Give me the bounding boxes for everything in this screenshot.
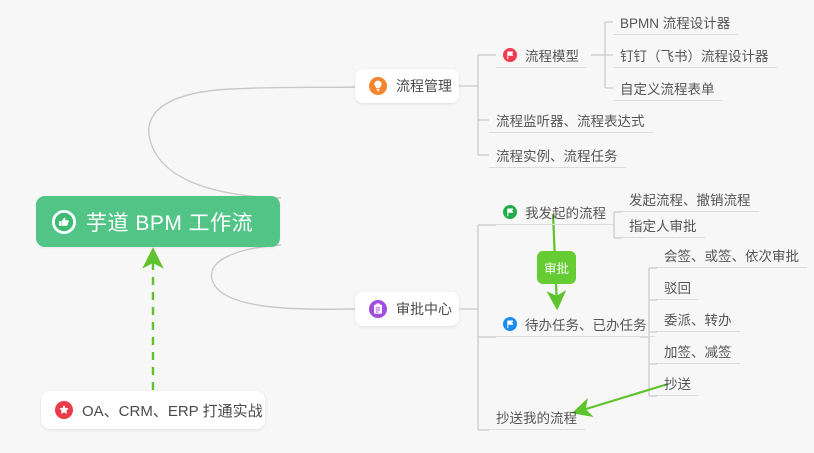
node-countersign[interactable]: 会签、或签、依次审批 [657, 242, 807, 268]
edge-root-to-process-management [149, 87, 355, 198]
node-process-listener[interactable]: 流程监听器、流程表达式 [489, 107, 653, 133]
node-label-process-listener: 流程监听器、流程表达式 [496, 110, 645, 130]
node-assignee-approval[interactable]: 指定人审批 [622, 212, 705, 238]
edge-root-to-approval-center [211, 245, 355, 309]
edge-process-model-spine [591, 22, 605, 88]
node-delegate-transfer[interactable]: 委派、转办 [657, 306, 740, 332]
node-label-process-model: 流程模型 [525, 45, 579, 65]
branch-node-approval-center[interactable]: 审批中心 [355, 292, 459, 326]
node-label-add-remove-sign: 加签、减签 [664, 341, 732, 361]
node-reject[interactable]: 驳回 [657, 274, 699, 300]
node-label-cc: 抄送 [664, 373, 691, 393]
node-label-my-started-process: 我发起的流程 [525, 202, 606, 222]
node-todo-done-tasks[interactable]: 待办任务、已办任务 [496, 311, 655, 337]
node-process-model[interactable]: 流程模型 [496, 42, 587, 68]
node-add-remove-sign[interactable]: 加签、减签 [657, 338, 740, 364]
branch-node-process-management[interactable]: 流程管理 [355, 69, 459, 103]
node-label-dingtalk-designer: 钉钉（飞书）流程设计器 [620, 45, 769, 65]
node-label-todo-done-tasks: 待办任务、已办任务 [525, 314, 647, 334]
node-custom-form[interactable]: 自定义流程表单 [613, 75, 723, 101]
root-label: 芋道 BPM 工作流 [86, 207, 253, 237]
node-my-started-process[interactable]: 我发起的流程 [496, 199, 614, 225]
branch-label-approval-center: 审批中心 [396, 299, 452, 319]
node-label-custom-form: 自定义流程表单 [620, 78, 715, 98]
flag-green-icon [503, 205, 517, 219]
node-bpmn-designer[interactable]: BPMN 流程设计器 [613, 9, 738, 35]
note-node-oa-crm-erp[interactable]: OA、CRM、ERP 打通实战 [41, 391, 265, 429]
mindmap-canvas: 芋道 BPM 工作流 流程管理 流程模型 BPMN 流程设计器 钉钉（飞书）流程… [0, 0, 814, 453]
node-process-instance[interactable]: 流程实例、流程任务 [489, 142, 626, 168]
arrow-chaosong [576, 384, 668, 412]
node-dingtalk-designer[interactable]: 钉钉（飞书）流程设计器 [613, 42, 777, 68]
edge-approval-center-spine [459, 225, 478, 430]
node-start-cancel-process[interactable]: 发起流程、撤销流程 [622, 186, 759, 212]
note-node-label: OA、CRM、ERP 打通实战 [82, 400, 263, 421]
node-label-process-instance: 流程实例、流程任务 [496, 145, 618, 165]
flag-red-icon [503, 48, 517, 62]
node-label-reject: 驳回 [664, 277, 691, 297]
branch-label-process-management: 流程管理 [396, 76, 452, 96]
node-label-cc-to-me: 抄送我的流程 [496, 407, 577, 427]
node-label-bpmn-designer: BPMN 流程设计器 [620, 12, 730, 32]
annotation-tag-approval-label: 审批 [544, 258, 569, 277]
root-node[interactable]: 芋道 BPM 工作流 [36, 196, 280, 247]
node-label-delegate-transfer: 委派、转办 [664, 309, 732, 329]
node-label-countersign: 会签、或签、依次审批 [664, 245, 799, 265]
thumbs-up-icon [52, 210, 76, 234]
node-cc-to-me[interactable]: 抄送我的流程 [489, 404, 585, 430]
star-icon [55, 401, 73, 419]
clipboard-icon [369, 300, 387, 318]
edge-process-management-spine [459, 55, 478, 155]
flag-blue-icon [503, 317, 517, 331]
lightbulb-icon [369, 77, 387, 95]
node-cc[interactable]: 抄送 [657, 370, 699, 396]
node-label-assignee-approval: 指定人审批 [629, 215, 697, 235]
node-label-start-cancel-process: 发起流程、撤销流程 [629, 189, 751, 209]
annotation-tag-approval: 审批 [537, 251, 576, 284]
